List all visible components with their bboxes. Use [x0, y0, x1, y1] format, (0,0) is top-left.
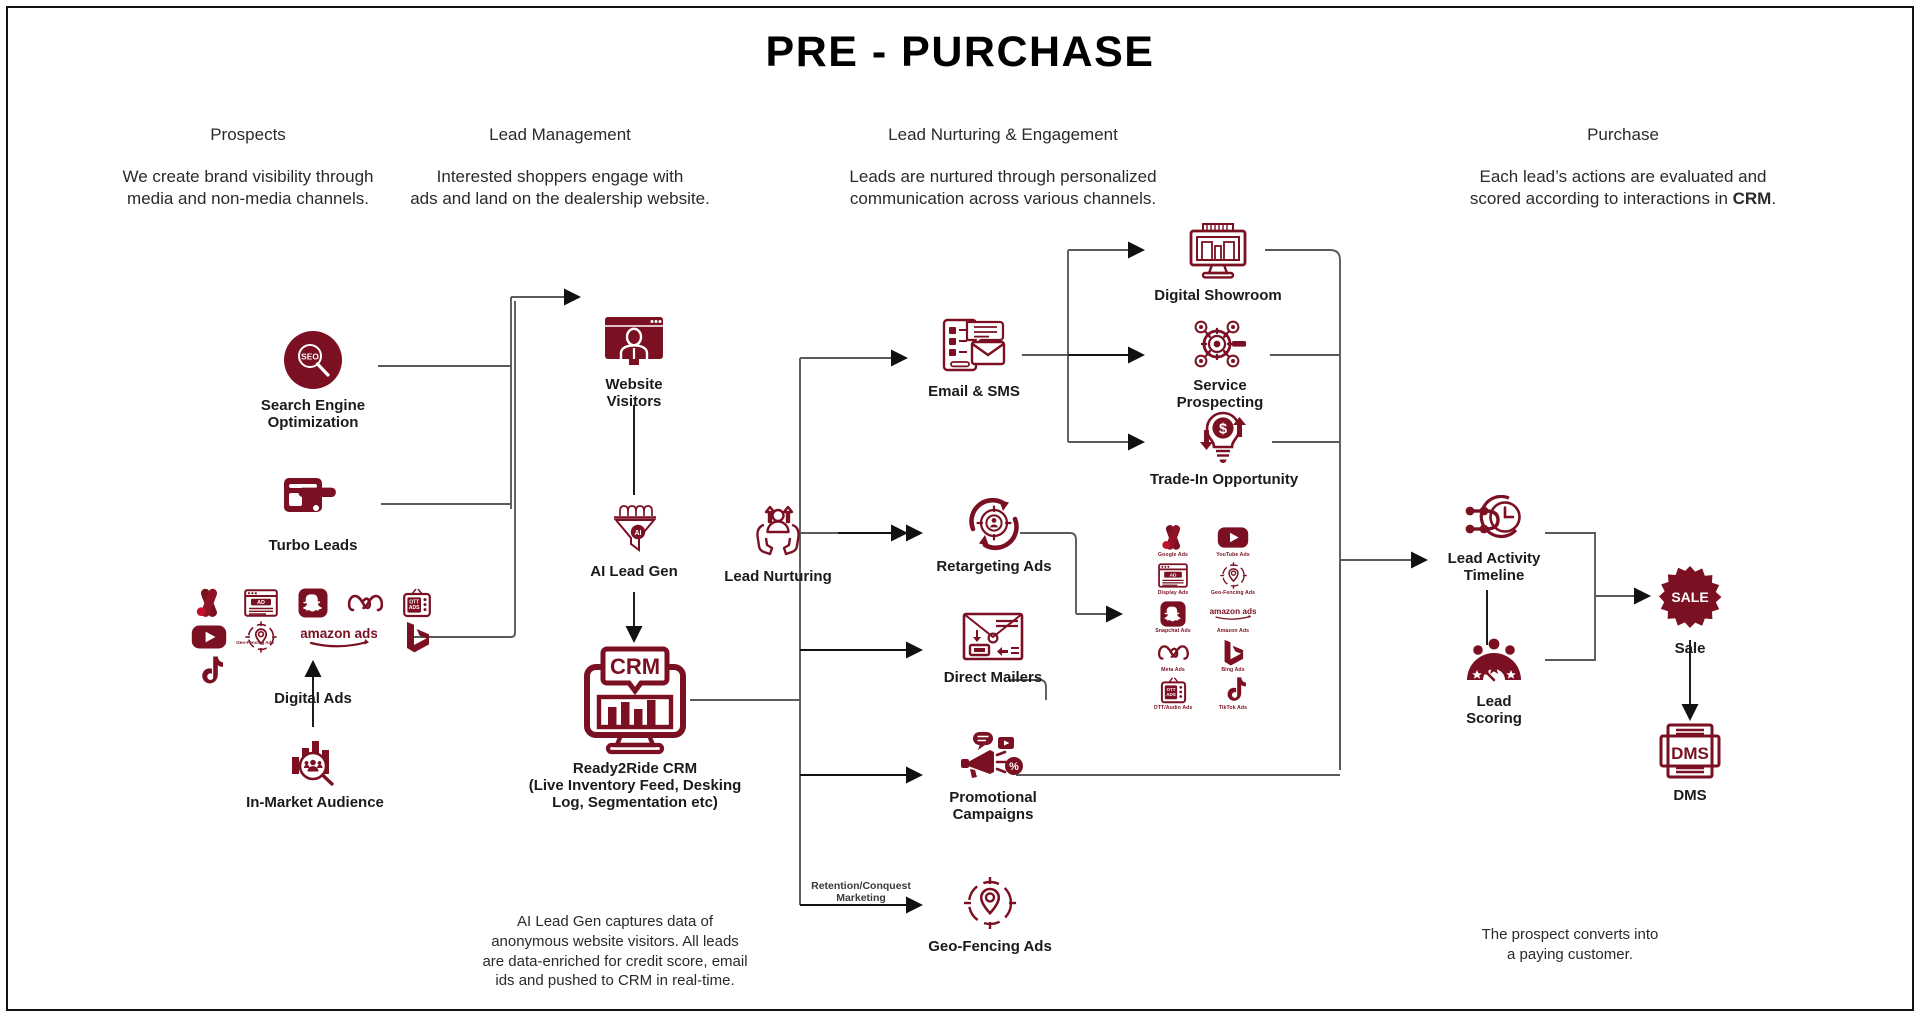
phase-desc-line-2a: scored according to interactions in [1470, 189, 1733, 208]
retargeting-ads-icon [928, 495, 1060, 551]
note-ai-lead-gen: AI Lead Gen captures data of anonymous w… [455, 912, 775, 991]
node-label: AI Lead Gen [573, 563, 695, 580]
phase-desc-line-2: communication across various channels. [850, 189, 1156, 208]
ad-platform-item[interactable]: Bing Ads [1210, 637, 1256, 673]
svg-text:SEO: SEO [301, 352, 319, 362]
node-sale[interactable]: SALE Sale [1630, 565, 1750, 657]
ad-platform-label: Display Ads [1150, 591, 1196, 596]
phase-title: Purchase [1437, 125, 1809, 145]
ott-audio-ads-icon: OTTADS [1150, 675, 1196, 706]
phase-header-lead-management: Lead Management Interested shoppers enga… [380, 125, 740, 210]
in-market-audience-icon [245, 735, 385, 787]
snapchat-ads-icon [291, 586, 335, 620]
node-label: In-Market Audience [245, 794, 385, 811]
seo-icon: SEO [253, 330, 373, 390]
node-ai-lead-gen[interactable]: AI AI Lead Gen [573, 498, 695, 580]
ad-platform-item[interactable]: YouTube Ads [1210, 522, 1256, 558]
note-purchase: The prospect converts into a paying cust… [1425, 925, 1715, 965]
svg-text:amazon ads: amazon ads [301, 626, 377, 641]
crm-icon: CRM [520, 645, 750, 757]
phase-header-lead-nurturing: Lead Nurturing & Engagement Leads are nu… [810, 125, 1196, 210]
digital-ad-item[interactable]: OTTADS [395, 586, 439, 620]
ad-platform-label: TikTok Ads [1210, 706, 1256, 711]
ad-platform-label: Snapchat Ads [1150, 629, 1196, 634]
geo-fencing-ads-icon [920, 875, 1060, 931]
node-in-market-audience[interactable]: In-Market Audience [245, 735, 385, 811]
tiktok-ads-icon [187, 654, 231, 688]
digital-ad-item[interactable]: amazon ads [291, 620, 387, 654]
bing-ads-icon [395, 620, 439, 654]
svg-text:%: % [1009, 761, 1019, 773]
node-ready2ride-crm[interactable]: CRM Ready2Ride CRM (Live Inventory Feed,… [520, 645, 750, 811]
youtube-ads-icon [187, 620, 231, 654]
ai-lead-gen-icon: AI [573, 498, 695, 556]
svg-text:$: $ [1219, 422, 1227, 438]
digital-ad-item[interactable] [395, 620, 439, 654]
node-label: Lead Scoring [1432, 693, 1556, 727]
ad-platform-label: YouTube Ads [1210, 553, 1256, 558]
sale-badge-icon: SALE [1630, 565, 1750, 633]
node-label: Digital Ads [188, 690, 438, 707]
node-label: Turbo Leads [253, 537, 373, 554]
service-prospecting-icon [1148, 318, 1292, 370]
ad-platform-label: Meta Ads [1150, 668, 1196, 673]
phase-desc-line-2: media and non-media channels. [127, 189, 369, 208]
turbo-leads-icon [253, 474, 373, 530]
geofencing-ads-icon [239, 620, 283, 654]
digital-ad-item[interactable] [187, 620, 231, 654]
lead-nurturing-icon [718, 505, 838, 561]
svg-text:ADS: ADS [1166, 692, 1176, 697]
node-label: Sale [1630, 640, 1750, 657]
node-label: Direct Mailers [928, 669, 1058, 686]
digital-ad-item[interactable] [343, 586, 387, 620]
dms-badge-text: DMS [1671, 744, 1709, 763]
svg-text:amazon ads: amazon ads [1210, 608, 1256, 617]
node-retargeting-ads[interactable]: Retargeting Ads [928, 495, 1060, 575]
trade-in-opportunity-icon: $ [1148, 408, 1300, 464]
meta-ads-icon [343, 586, 387, 620]
phase-desc-line-1: Each lead’s actions are evaluated and [1480, 167, 1767, 186]
page-title: PRE - PURCHASE [0, 28, 1920, 77]
node-label: Digital Showroom [1148, 287, 1288, 304]
tiktok-ads-icon [1210, 675, 1256, 706]
node-search-engine-optimization[interactable]: SEO Search Engine Optimization [253, 330, 373, 431]
amazon-ads-icon: amazon ads [1210, 598, 1256, 629]
node-digital-ads[interactable]: AD OTTADS amazon ads [188, 586, 438, 707]
phase-description: Leads are nurtured through personalized … [810, 166, 1196, 210]
website-visitors-icon [578, 315, 690, 369]
meta-ads-icon [1150, 637, 1196, 668]
dms-icon: DMS [1630, 722, 1750, 780]
node-label: Geo-Fencing Ads [920, 938, 1060, 955]
sale-badge-text: SALE [1671, 589, 1708, 605]
crm-emphasis: CRM [1733, 189, 1772, 208]
node-label: Retargeting Ads [928, 558, 1060, 575]
node-label: Trade-In Opportunity [1148, 471, 1300, 488]
digital-ad-item[interactable] [187, 586, 231, 620]
ad-platform-item[interactable]: Google Ads [1150, 522, 1196, 558]
node-label: Promotional Campaigns [920, 789, 1066, 823]
phase-desc-line-1: Interested shoppers engage with [437, 167, 684, 186]
ad-platform-label: Amazon Ads [1210, 629, 1256, 634]
phase-description: Each lead’s actions are evaluated and sc… [1437, 166, 1809, 210]
digital-ad-item[interactable]: AD [239, 586, 283, 620]
node-label: Lead Activity Timeline [1432, 550, 1556, 584]
display-ads-icon: AD [1150, 560, 1196, 591]
node-lead-activity-timeline[interactable]: Lead Activity Timeline [1432, 495, 1556, 584]
node-label: Email & SMS [915, 383, 1033, 400]
youtube-ads-icon [1210, 522, 1256, 553]
phase-title: Prospects [88, 125, 408, 145]
node-digital-showroom[interactable]: Digital Showroom [1148, 222, 1288, 304]
display-ads-icon: AD [239, 586, 283, 620]
node-email-sms[interactable]: Email & SMS [915, 318, 1033, 400]
phase-title: Lead Nurturing & Engagement [810, 125, 1196, 145]
node-label: Search Engine Optimization [253, 397, 373, 431]
google-ads-icon [1150, 522, 1196, 553]
digital-ad-item[interactable] [291, 586, 335, 620]
node-promotional-campaigns[interactable]: % Promotional Campaigns [920, 730, 1066, 823]
node-lead-nurturing[interactable]: Lead Nurturing [718, 505, 838, 585]
node-geo-fencing-ads[interactable]: Geo-Fencing Ads [920, 875, 1060, 955]
digital-ads-grid: AD OTTADS amazon ads [188, 586, 438, 688]
ad-platform-item[interactable]: AD Display Ads [1150, 560, 1196, 596]
ad-platform-item[interactable]: Snapchat Ads [1150, 598, 1196, 634]
crm-badge-text: CRM [610, 654, 660, 679]
node-website-visitors[interactable]: Website Visitors [578, 315, 690, 410]
node-label: Ready2Ride CRM (Live Inventory Feed, Des… [520, 760, 750, 811]
node-direct-mailers[interactable]: Direct Mailers [928, 612, 1058, 686]
direct-mailers-icon [928, 612, 1058, 662]
ad-platform-label: Bing Ads [1210, 668, 1256, 673]
node-service-prospecting[interactable]: Service Prospecting [1148, 318, 1292, 411]
svg-text:ADS: ADS [409, 605, 420, 611]
phase-title: Lead Management [380, 125, 740, 145]
geofencing-ads-icon [1210, 560, 1256, 591]
phase-description: Interested shoppers engage with ads and … [380, 166, 740, 210]
phase-desc-line-1: Leads are nurtured through personalized [849, 167, 1156, 186]
digital-showroom-icon [1148, 222, 1288, 280]
node-label: Service Prospecting [1148, 377, 1292, 411]
ad-platform-item[interactable]: Geo-Fencing Ads [1210, 560, 1256, 596]
google-ads-icon [187, 586, 231, 620]
node-turbo-leads[interactable]: Turbo Leads [253, 474, 373, 554]
diagram-canvas: PRE - PURCHASE Prospects We create brand… [0, 0, 1920, 1017]
email-sms-icon [915, 318, 1033, 376]
node-dms[interactable]: DMS DMS [1630, 722, 1750, 804]
ad-platform-item[interactable]: amazon ads Amazon Ads [1210, 598, 1256, 634]
svg-text:AI: AI [635, 530, 642, 537]
digital-ad-item[interactable] [239, 620, 283, 654]
phase-desc-line-2c: . [1771, 189, 1776, 208]
node-lead-scoring[interactable]: Lead Scoring [1432, 638, 1556, 727]
ad-platform-item[interactable]: TikTok Ads [1210, 675, 1256, 711]
ad-platform-label: Google Ads [1150, 553, 1196, 558]
lead-scoring-icon [1432, 638, 1556, 686]
ad-platform-item[interactable]: Meta Ads [1150, 637, 1196, 673]
node-label: Lead Nurturing [718, 568, 838, 585]
phase-desc-line-1: We create brand visibility through [122, 167, 373, 186]
ad-platform-item[interactable]: OTTADS OTT/Audio Ads [1150, 675, 1196, 711]
lead-activity-timeline-icon [1432, 495, 1556, 543]
promotional-campaigns-icon: % [920, 730, 1066, 782]
node-label: DMS [1630, 787, 1750, 804]
phase-desc-line-2: ads and land on the dealership website. [410, 189, 710, 208]
ad-platforms-grid: Google Ads YouTube Ads AD Display Ads Ge… [1150, 522, 1256, 711]
digital-ads-geofencing-caption: Geo-Fencing Ads [223, 640, 287, 645]
ott-audio-ads-icon: OTTADS [395, 586, 439, 620]
node-trade-in-opportunity[interactable]: $ Trade-In Opportunity [1148, 408, 1300, 488]
node-label: Website Visitors [578, 376, 690, 410]
phase-description: We create brand visibility through media… [88, 166, 408, 210]
amazon-ads-icon: amazon ads [291, 620, 387, 654]
bing-ads-icon [1210, 637, 1256, 668]
svg-text:AD: AD [1170, 573, 1177, 579]
digital-ad-item[interactable] [187, 654, 231, 688]
phase-header-prospects: Prospects We create brand visibility thr… [88, 125, 408, 210]
ad-platform-label: OTT/Audio Ads [1150, 706, 1196, 711]
snapchat-ads-icon [1150, 598, 1196, 629]
phase-header-purchase: Purchase Each lead’s actions are evaluat… [1437, 125, 1809, 210]
ad-platform-label: Geo-Fencing Ads [1210, 591, 1256, 596]
svg-text:AD: AD [257, 600, 265, 606]
connector-label-retention-conquest: Retention/Conquest Marketing [805, 880, 917, 904]
